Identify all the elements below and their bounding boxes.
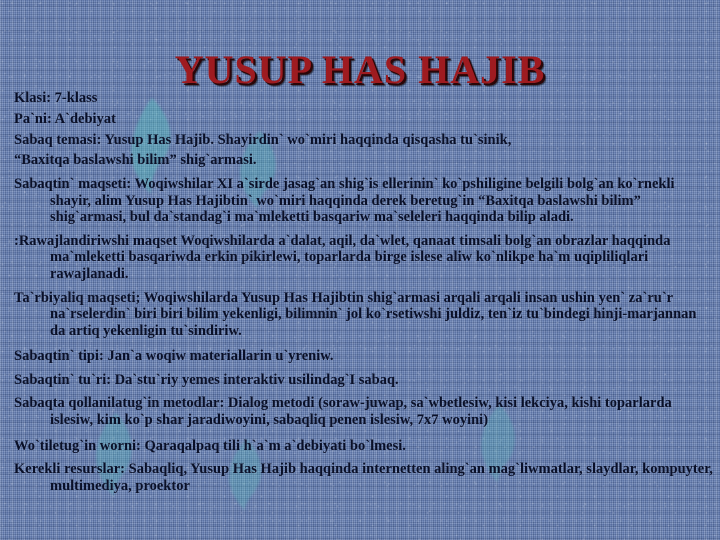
developmental-objective-paragraph: :Rawajlandiriwshi maqset Woqiwshilarda a… [14, 233, 714, 283]
educational-objective-paragraph: Ta`rbiyaliq maqseti; Woqiwshilarda Yusup… [14, 290, 714, 340]
lesson-location-line: Wo`tiletug`in worni: Qaraqalpaq tili h`a… [14, 438, 714, 455]
lesson-methods-paragraph: Sabaqta qollanilatug`in metodlar: Dialog… [14, 395, 714, 428]
lesson-resources-paragraph: Kerekli resurslar: Sabaqliq, Yusup Has H… [14, 461, 714, 494]
lesson-work-title-line: “Baxitqa baslawshi bilim” shig`armasi. [14, 152, 714, 169]
lesson-type-line: Sabaqtin` tipi: Jan`a woqiw materiallari… [14, 348, 714, 365]
slide-body: Klasi: 7-klass Pa`ni: A`debiyat Sabaq te… [14, 90, 714, 499]
lesson-form-line: Sabaqtin` tu`ri: Da`stu`riy yemes intera… [14, 372, 714, 389]
lesson-objective-paragraph: Sabaqtin` maqseti: Woqiwshilar XI a`sird… [14, 176, 714, 226]
lesson-topic-line: Sabaq temasi: Yusup Has Hajib. Shayirdin… [14, 132, 714, 149]
page-title: YUSUP HAS HAJIB [0, 46, 720, 93]
presentation-slide: YUSUP HAS HAJIB Klasi: 7-klass Pa`ni: A`… [0, 0, 720, 540]
lesson-subject-line: Pa`ni: A`debiyat [14, 111, 714, 128]
lesson-class-line: Klasi: 7-klass [14, 90, 714, 107]
